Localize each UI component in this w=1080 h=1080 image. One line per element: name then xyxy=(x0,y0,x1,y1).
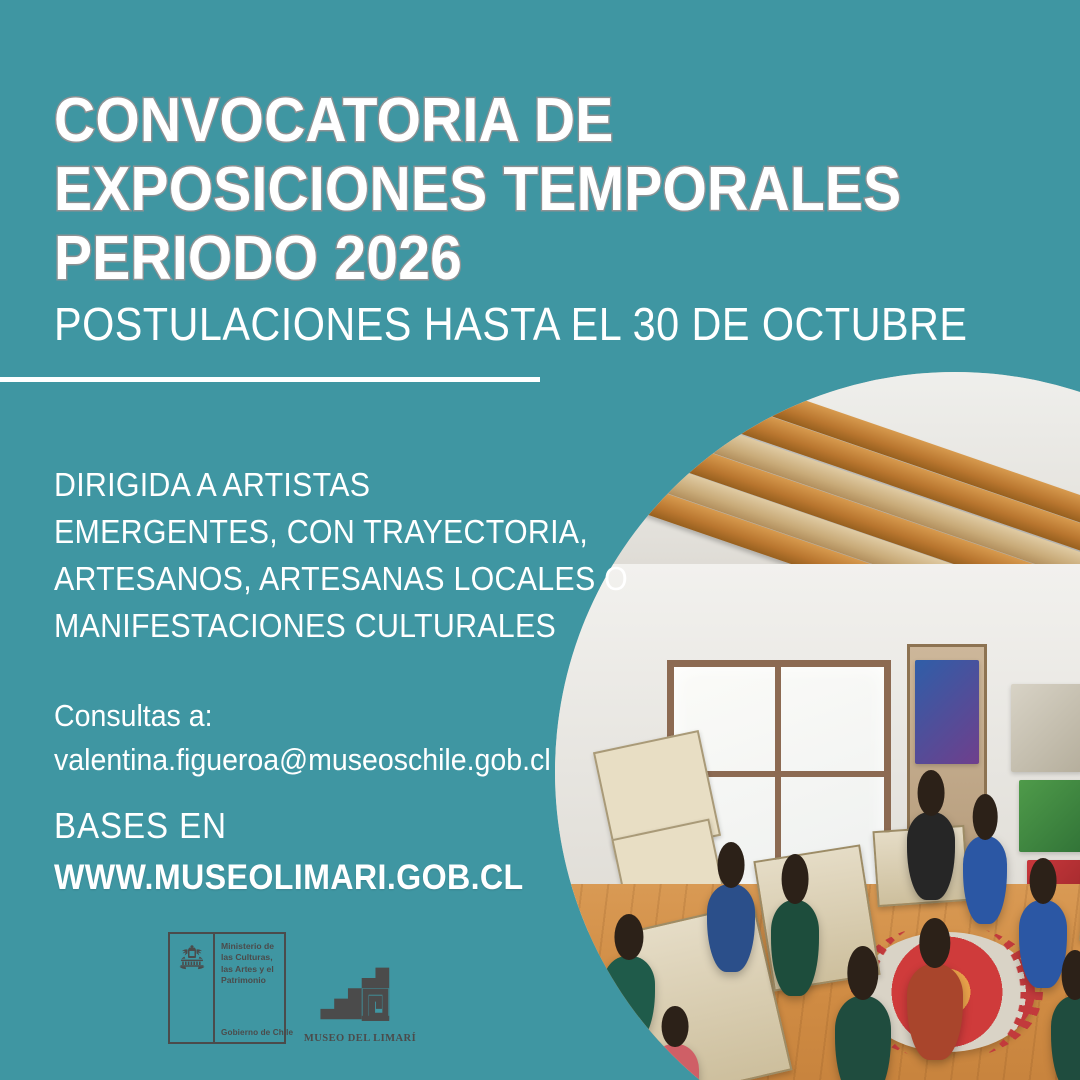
audience-line-2: EMERGENTES, CON TRAYECTORIA, xyxy=(54,509,532,556)
chile-coat-of-arms-icon xyxy=(176,942,208,972)
museum-logo: MUSEO DEL LIMARÍ xyxy=(308,940,412,1044)
ministry-text-cell: Ministerio de las Culturas, las Artes y … xyxy=(215,934,284,1042)
headline-line-1: CONVOCATORIA DE xyxy=(54,86,790,155)
audience-line-1: DIRIGIDA A ARTISTAS xyxy=(54,462,532,509)
ministry-name: Ministerio de las Culturas, las Artes y … xyxy=(221,941,280,986)
contact-label: Consultas a: xyxy=(54,694,551,738)
contact-block: Consultas a: valentina.figueroa@museosch… xyxy=(54,694,551,782)
page-title: CONVOCATORIA DE EXPOSICIONES TEMPORALES … xyxy=(54,86,790,294)
headline-line-3: PERIODO 2026 xyxy=(54,224,790,293)
crest-cell xyxy=(170,934,215,1042)
bases-label: BASES EN xyxy=(54,805,227,847)
website-link[interactable]: WWW.MUSEOLIMARI.GOB.CL xyxy=(54,858,524,898)
text-content-layer: CONVOCATORIA DE EXPOSICIONES TEMPORALES … xyxy=(0,0,1080,1080)
ministry-logo: Ministerio de las Culturas, las Artes y … xyxy=(168,932,286,1044)
logo-row: Ministerio de las Culturas, las Artes y … xyxy=(168,932,412,1044)
contact-email[interactable]: valentina.figueroa@museoschile.gob.cl xyxy=(54,738,551,782)
audience-line-4: MANIFESTACIONES CULTURALES xyxy=(54,603,532,650)
divider-rule xyxy=(0,377,540,382)
audience-line-3: ARTESANOS, ARTESANAS LOCALES O xyxy=(54,556,532,603)
museum-name: MUSEO DEL LIMARÍ xyxy=(304,1033,416,1044)
stepped-greca-icon xyxy=(317,952,403,1028)
poster-canvas: CONVOCATORIA DE EXPOSICIONES TEMPORALES … xyxy=(0,0,1080,1080)
government-label: Gobierno de Chile xyxy=(221,1028,293,1037)
deadline-subheadline: POSTULACIONES HASTA EL 30 DE OCTUBRE xyxy=(54,300,967,348)
audience-description: DIRIGIDA A ARTISTAS EMERGENTES, CON TRAY… xyxy=(54,462,532,649)
headline-line-2: EXPOSICIONES TEMPORALES xyxy=(54,155,790,224)
